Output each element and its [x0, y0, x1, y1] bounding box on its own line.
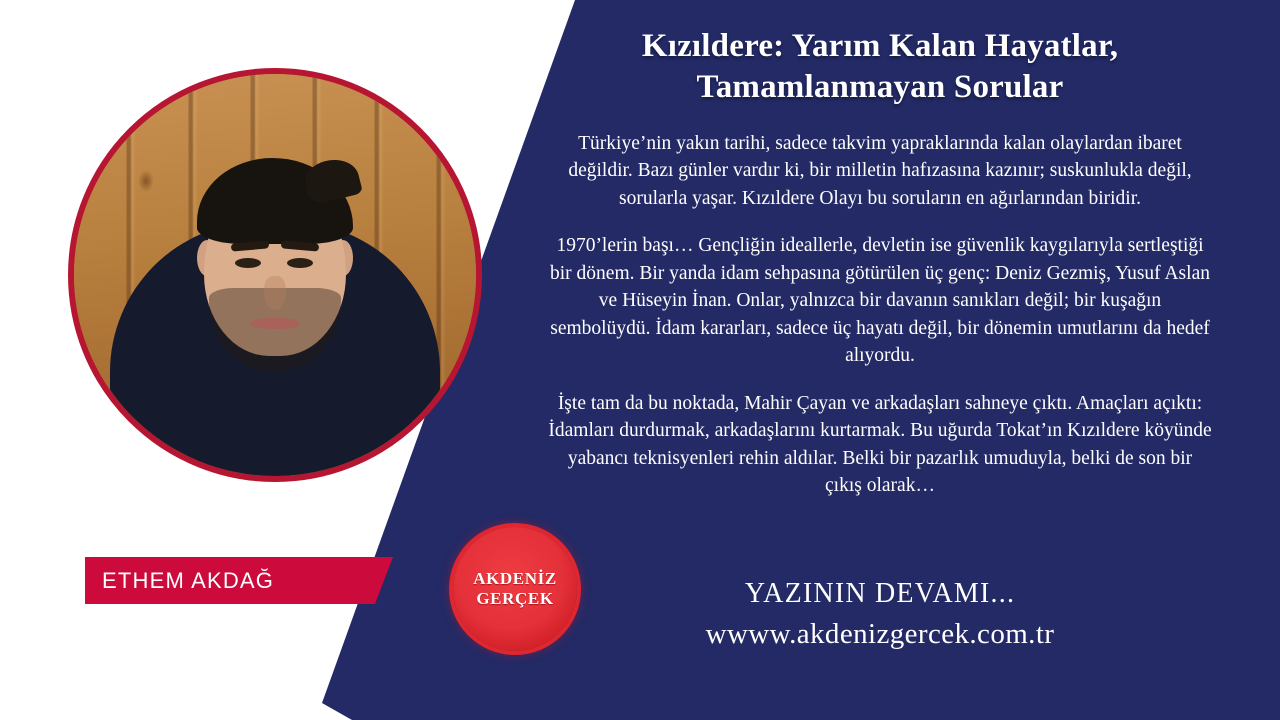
- author-name-bar: ETHEM AKDAĞ: [85, 557, 393, 604]
- article-content: Kızıldere: Yarım Kalan Hayatlar, Tamamla…: [530, 0, 1230, 720]
- nose: [264, 276, 286, 310]
- cta-continue-label: YAZININ DEVAMI...: [530, 578, 1230, 610]
- brand-badge-line-1: AKDENİZ: [473, 569, 557, 589]
- eye-right: [287, 258, 313, 268]
- eye-left: [235, 258, 261, 268]
- article-paragraph-1: Türkiye’nin yakın tarihi, sadece takvim …: [542, 130, 1218, 212]
- article-paragraph-2: 1970’lerin başı… Gençliğin ideallerle, d…: [542, 232, 1218, 369]
- article-paragraph-3: İşte tam da bu noktada, Mahir Çayan ve a…: [542, 390, 1218, 500]
- call-to-action: YAZININ DEVAMI... wwww.akdenizgercek.com…: [530, 578, 1230, 651]
- brand-badge: AKDENİZ GERÇEK: [453, 527, 577, 651]
- news-promo-poster: ETHEM AKDAĞ AKDENİZ GERÇEK Kızıldere: Ya…: [0, 0, 1280, 720]
- article-headline: Kızıldere: Yarım Kalan Hayatlar, Tamamla…: [542, 26, 1218, 108]
- author-photo-circle: [68, 68, 482, 482]
- author-name-label: ETHEM AKDAĞ: [85, 568, 274, 594]
- brand-badge-line-2: GERÇEK: [476, 589, 553, 609]
- author-photo: [74, 74, 476, 476]
- mouth: [251, 318, 299, 329]
- cta-website-url[interactable]: wwww.akdenizgercek.com.tr: [530, 618, 1230, 651]
